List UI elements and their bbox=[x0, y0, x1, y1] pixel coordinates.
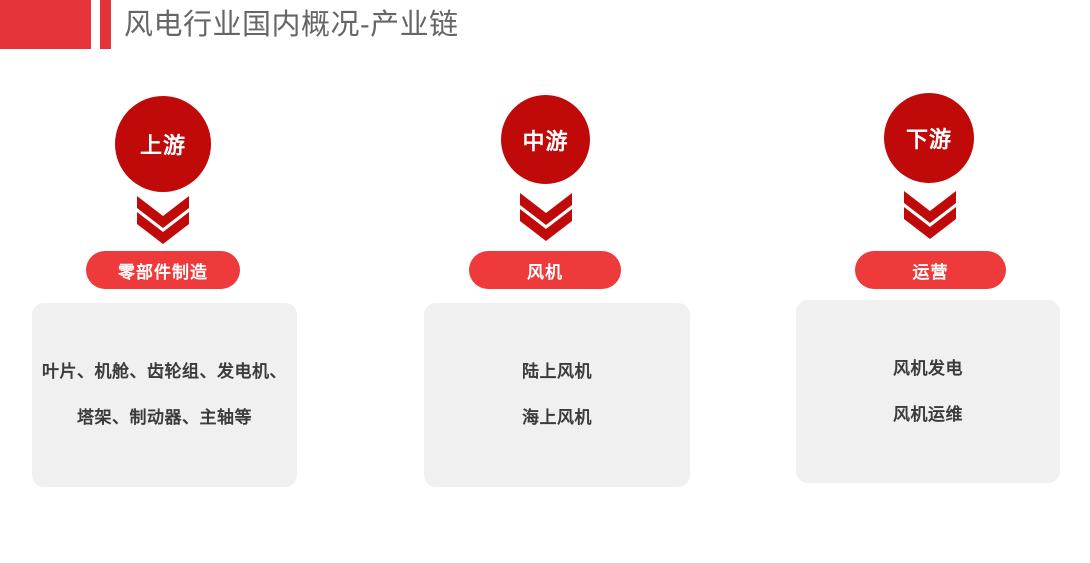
detail-line: 海上风机 bbox=[522, 395, 592, 441]
category-pill-label: 风机 bbox=[527, 258, 563, 283]
detail-box-downstream: 风机发电 风机运维 bbox=[796, 300, 1060, 483]
category-pill-label: 运营 bbox=[913, 258, 949, 283]
detail-box-midstream: 陆上风机 海上风机 bbox=[424, 303, 690, 487]
double-chevron-down-icon bbox=[133, 192, 193, 244]
detail-box-upstream: 叶片、机舱、齿轮组、发电机、 塔架、制动器、主轴等 bbox=[32, 303, 297, 487]
header-accent-block bbox=[0, 0, 91, 49]
stage-circle-label: 上游 bbox=[140, 128, 186, 160]
detail-line: 叶片、机舱、齿轮组、发电机、 bbox=[42, 349, 287, 395]
category-pill-label: 零部件制造 bbox=[118, 258, 208, 283]
stage-circle-downstream[interactable]: 下游 bbox=[884, 93, 974, 183]
header-accent-bar bbox=[100, 0, 111, 49]
stage-circle-midstream[interactable]: 中游 bbox=[501, 95, 590, 184]
stage-circle-label: 下游 bbox=[906, 122, 952, 154]
page-title: 风电行业国内概况-产业链 bbox=[124, 2, 459, 48]
double-chevron-down-icon bbox=[900, 187, 960, 239]
page-header: 风电行业国内概况-产业链 bbox=[0, 0, 1090, 50]
category-pill-downstream[interactable]: 运营 bbox=[855, 251, 1006, 289]
detail-line: 风机运维 bbox=[893, 392, 963, 438]
category-pill-midstream[interactable]: 风机 bbox=[469, 251, 621, 289]
double-chevron-down-icon bbox=[516, 189, 576, 241]
detail-line: 风机发电 bbox=[893, 346, 963, 392]
category-pill-upstream[interactable]: 零部件制造 bbox=[86, 251, 240, 289]
detail-line: 塔架、制动器、主轴等 bbox=[77, 395, 252, 441]
detail-line: 陆上风机 bbox=[522, 349, 592, 395]
stage-circle-label: 中游 bbox=[522, 124, 568, 156]
stage-circle-upstream[interactable]: 上游 bbox=[115, 96, 211, 192]
